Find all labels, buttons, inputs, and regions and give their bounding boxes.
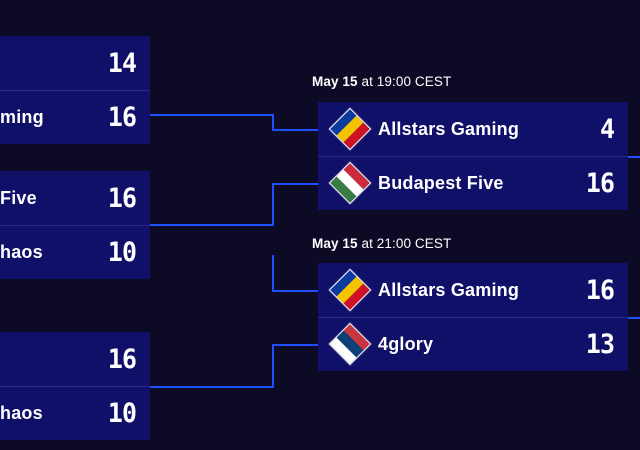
- table-row[interactable]: haos 10: [0, 386, 150, 440]
- team-name: Budapest Five: [378, 173, 578, 194]
- table-row[interactable]: 4glory 13: [318, 317, 628, 371]
- team-score: 16: [103, 102, 136, 133]
- table-row[interactable]: 14: [0, 36, 150, 90]
- team-score: 4: [581, 114, 614, 145]
- team-name: Allstars Gaming: [378, 280, 578, 301]
- final-date-label: May 15 at 21:00 CEST: [312, 236, 451, 251]
- connector-semifinal-row2-in: [272, 183, 318, 185]
- team-score: 16: [581, 168, 614, 199]
- connector-left1-horizontal: [150, 114, 274, 116]
- connector-left2-horizontal: [150, 224, 274, 226]
- team-score: 14: [103, 48, 136, 79]
- team-score: 16: [581, 275, 614, 306]
- romania-flag-icon: [328, 268, 372, 312]
- team-name: 4glory: [378, 334, 578, 355]
- semifinal-date-label: May 15 at 19:00 CEST: [312, 74, 451, 89]
- hungary-flag-icon: [328, 161, 372, 205]
- table-row[interactable]: ming 16: [0, 90, 150, 144]
- table-row[interactable]: 16: [0, 332, 150, 386]
- team-score: 10: [103, 398, 136, 429]
- connector-final-row1-in: [272, 290, 318, 292]
- table-row[interactable]: Allstars Gaming 4: [318, 102, 628, 156]
- semifinal-date-bold: May 15: [312, 74, 358, 89]
- romania-flag-icon: [328, 107, 372, 151]
- left-match-3[interactable]: 16 haos 10: [0, 332, 150, 440]
- final-match[interactable]: Allstars Gaming 16 4glory 13: [318, 263, 628, 371]
- team-name: ming: [0, 107, 100, 128]
- connector-left2-vertical: [272, 183, 274, 226]
- connector-left3-horizontal: [150, 386, 274, 388]
- table-row[interactable]: Allstars Gaming 16: [318, 263, 628, 317]
- semifinal-match[interactable]: Allstars Gaming 4 Budapest Five 16: [318, 102, 628, 210]
- team-name: haos: [0, 242, 100, 263]
- semifinal-date-rest: at 19:00 CEST: [358, 74, 452, 89]
- final-date-bold: May 15: [312, 236, 358, 251]
- left-match-1[interactable]: 14 ming 16: [0, 36, 150, 144]
- connector-final-row2-in: [272, 344, 318, 346]
- team-name: Five: [0, 188, 100, 209]
- team-score: 16: [103, 344, 136, 375]
- serbia-flag-icon: [328, 322, 372, 366]
- table-row[interactable]: haos 10: [0, 225, 150, 279]
- team-score: 10: [103, 237, 136, 268]
- bracket-canvas: 14 ming 16 Five 16 haos 10 16 haos 10 Ma…: [0, 0, 640, 450]
- table-row[interactable]: Budapest Five 16: [318, 156, 628, 210]
- connector-final-row1-vertical: [272, 255, 274, 292]
- connector-semifinal-row1-in: [272, 129, 318, 131]
- team-name: Allstars Gaming: [378, 119, 578, 140]
- team-score: 16: [103, 183, 136, 214]
- connector-left3-vertical: [272, 344, 274, 388]
- team-name: haos: [0, 403, 100, 424]
- table-row[interactable]: Five 16: [0, 171, 150, 225]
- connector-final-right-stub: [628, 317, 640, 319]
- left-match-2[interactable]: Five 16 haos 10: [0, 171, 150, 279]
- team-score: 13: [581, 329, 614, 360]
- connector-semifinal-right-stub: [628, 156, 640, 158]
- final-date-rest: at 21:00 CEST: [358, 236, 452, 251]
